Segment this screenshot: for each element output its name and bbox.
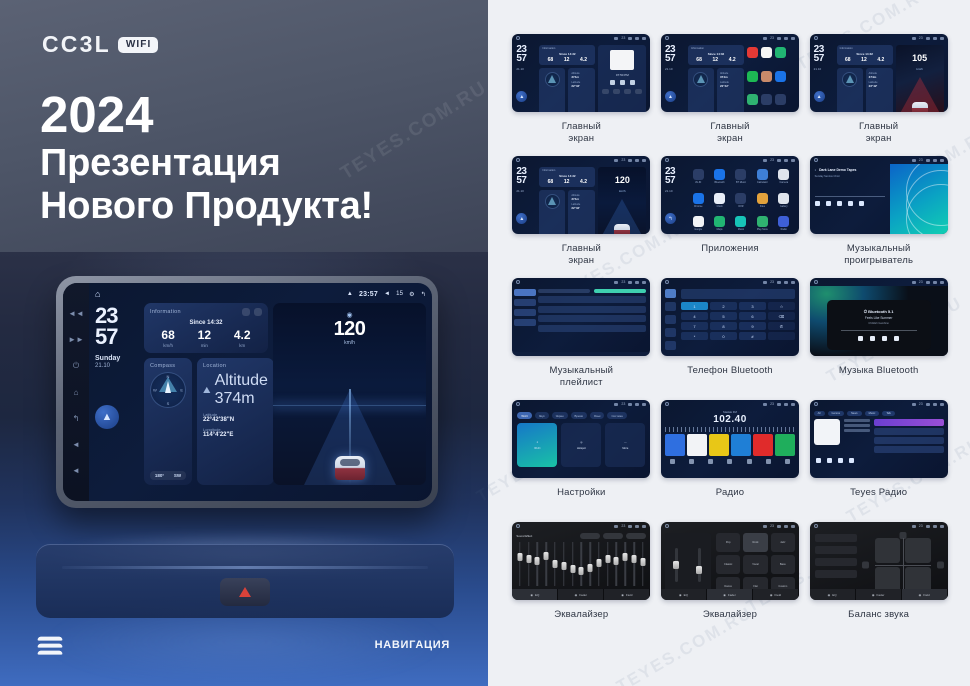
back-icon: [940, 281, 944, 284]
sidebar-item-settings: [665, 341, 676, 350]
back-icon: [642, 281, 646, 284]
gallery-caption: Музыкальный плейлист: [549, 365, 613, 389]
stat-duration-value: 12: [198, 329, 211, 341]
wifi-icon: [614, 159, 618, 162]
gear-icon: [784, 159, 788, 162]
preset-6: [775, 434, 795, 456]
list-item: [874, 419, 944, 426]
gallery-item[interactable]: 23 1Dark Lane Demo Tapes Sunday Service …: [807, 156, 950, 276]
teyes-radio-controls[interactable]: [814, 458, 944, 463]
wifi-icon: ✦: [536, 441, 538, 444]
gallery-item[interactable]: 23 ⏻ Bluetooth 5.1 Feels Like Summer Chi…: [807, 278, 950, 398]
backspace-icon: ⌫: [768, 312, 795, 320]
home-icon: [814, 36, 818, 40]
speed-unit: km/h: [273, 340, 426, 346]
sidebar-item-tracks: [514, 289, 536, 296]
mini-time: 23: [770, 36, 774, 40]
mini-time: 23: [621, 524, 625, 528]
equalizer-faders[interactable]: [516, 542, 646, 586]
fader: [569, 542, 576, 586]
clock-date: 21.10: [95, 363, 139, 369]
mini-stat-3: 4.2: [580, 57, 587, 63]
preset-4: [731, 434, 751, 456]
mini-info-since: Since 14:32: [691, 52, 741, 56]
eq-icon: [708, 459, 713, 464]
expand-icon[interactable]: [254, 308, 262, 316]
station-artwork: [814, 419, 840, 445]
gallery-item[interactable]: 23 23 57 21.10 ▲ Information Since 14:32: [510, 34, 653, 154]
drive-view-widget[interactable]: ◉ 120 km/h: [273, 303, 426, 485]
navigation-label: НАВИГАЦИЯ: [375, 639, 450, 651]
list-item: [874, 437, 944, 444]
mini-clock-minutes: 57: [516, 54, 536, 63]
head-unit-screen[interactable]: ◄◄ ►► ⏻ ⌂ ↰ ◄ ◄ ⌂ ▲ 23:57: [63, 283, 432, 501]
prev-icon: [826, 201, 831, 206]
player-controls[interactable]: [815, 201, 885, 206]
thumbnail-bluetooth-music[interactable]: 23 ⏻ Bluetooth 5.1 Feels Like Summer Chi…: [810, 278, 948, 356]
gallery-item[interactable]: 23 Maslak FM 102.40: [659, 400, 802, 520]
next-icon: [848, 201, 853, 206]
next-icon: [537, 356, 542, 357]
volume-down-key-icon[interactable]: ◄: [71, 439, 82, 450]
playlist-player-bar[interactable]: [512, 352, 650, 356]
gear-icon: [784, 281, 788, 284]
bluetooth-card: ⏻ Bluetooth 5.1 Feels Like Summer Childi…: [827, 300, 931, 350]
mini-status-icons: 23: [912, 402, 944, 406]
key-2: 2: [710, 302, 737, 310]
sidebar-item-artists: [514, 299, 536, 306]
stat-duration-unit: min: [198, 343, 211, 348]
thumbnail-sound-balance[interactable]: 23: [810, 522, 948, 600]
hero-panel: TEYES.COM.RU TEYES.COM.RU TEYES.COM.RU T…: [0, 0, 488, 686]
gallery-caption: Музыка Bluetooth: [839, 365, 919, 377]
gear-icon: [784, 37, 788, 40]
speaker-front-right: [905, 538, 931, 563]
thumbnail-teyes-radio[interactable]: 23 AllGenresNews MusicTalk: [810, 400, 948, 478]
tab-news: News: [847, 411, 862, 416]
mini-information-card: Information Since 14:32 68124.2: [837, 45, 893, 65]
key-4: 4: [681, 312, 708, 320]
mini-home: 2357 21.10▲ Information Since 14:32 6812…: [810, 42, 948, 112]
prev-key-icon[interactable]: ◄◄: [71, 308, 82, 319]
stop-icon: [620, 80, 625, 85]
playlist-sidebar[interactable]: [512, 286, 538, 356]
caption-line-2: экран: [717, 133, 743, 144]
preset-5: [753, 434, 773, 456]
mini-status-bar: 23: [661, 522, 799, 530]
gallery-caption: Главный экран: [859, 121, 898, 145]
wifi-icon: [614, 37, 618, 40]
more-icon: ⋯: [624, 441, 627, 444]
mini-status-icons: 23: [912, 36, 944, 40]
layers-icon: [38, 636, 62, 655]
mini-lower-widgets: Altitude374m Latitude22°42': [539, 68, 595, 112]
mini-info-since: Since 14:32: [542, 52, 592, 56]
mini-status-icons: 23: [614, 402, 646, 406]
equalizer-bottom-tabs[interactable]: ◉EQ ◉Fader ◉Field: [512, 589, 650, 600]
compass-direction: SW: [174, 473, 181, 478]
headline-year: 2024: [40, 88, 373, 142]
location-altitude: ⛰ Altitude 374m: [203, 372, 268, 408]
compass-east: E: [180, 388, 183, 393]
mini-status-bar: 23: [512, 278, 650, 286]
sidebar-item-favorites: [665, 315, 676, 324]
preset-2: [687, 434, 707, 456]
preset-buttons[interactable]: Pop Rock Jazz Classic Vocal Bass Dance F…: [716, 533, 795, 596]
radio-display: Maslak FM 102.40: [665, 410, 795, 425]
status-bar: ⌂ ▲ 23:57 ◄ 15 ⚙ ↰: [95, 288, 426, 300]
gallery-item[interactable]: 23 23 57 21.10 ▲ Information Since 14:32: [659, 34, 802, 154]
mini-info-stats: 68124.2: [691, 57, 741, 63]
wifi-icon: [614, 403, 618, 406]
tab-fader: ◉Fader: [707, 589, 753, 600]
mini-status-bar: 23: [810, 156, 948, 164]
preset-all: [815, 570, 857, 578]
field-icon: ◉: [770, 593, 773, 597]
settings-tabs[interactable]: Wi-Fi Звук Экран Время Язык Система: [517, 412, 645, 419]
gallery-item[interactable]: 23 2357 21.10↰ AV-IN Bluetooth BT Music …: [659, 156, 802, 276]
key-8: 8: [710, 322, 737, 330]
loc-icon: [766, 459, 771, 464]
compass-dial: N E S W: [150, 372, 186, 408]
mini-stat-1: 68: [548, 57, 554, 63]
wifi-icon: [912, 525, 916, 528]
gallery-caption: Главный экран: [562, 243, 601, 267]
tab-time: Время: [571, 412, 587, 419]
compass-needle-icon: [697, 75, 705, 83]
thumbnail-settings[interactable]: 23 Wi-Fi Звук Экран Время Язык Система ✦…: [512, 400, 650, 478]
call-icon: ✆: [768, 322, 795, 330]
navigation-arrow-icon[interactable]: ▲: [95, 405, 119, 429]
mini-status-icons: 23: [614, 524, 646, 528]
gallery-caption: Приложения: [701, 243, 759, 255]
mini-music-time: 07:50 PM: [616, 73, 629, 77]
caption-line-1: Главный: [859, 121, 898, 132]
fader-icon: ◉: [872, 593, 875, 597]
fader: [534, 542, 541, 586]
teyes-radio-body: [814, 419, 944, 455]
navigation-arrow-icon: ▲: [516, 213, 527, 224]
mini-clock: 2357 21.10↰: [665, 167, 685, 234]
star-icon: ☆: [768, 302, 795, 310]
home-icon: [814, 402, 818, 406]
radio-toolbar[interactable]: [665, 459, 795, 464]
dialer-keypad[interactable]: 1 2 3 ☆ 4 5 6 ⌫ 7 8 9 ✆: [681, 302, 795, 340]
mini-information-card: Information Since 14:32 68124.2: [539, 167, 595, 187]
thumbnail-home-apps[interactable]: 23 23 57 21.10 ▲ Information Since 14:32: [661, 34, 799, 112]
screen-content: ⌂ ▲ 23:57 ◄ 15 ⚙ ↰: [89, 283, 432, 501]
mini-time: 23: [770, 280, 774, 284]
mini-time: 23: [621, 158, 625, 162]
back-icon: [642, 403, 646, 406]
compass-south: S: [167, 401, 170, 406]
compass-bearing: 180°: [155, 473, 164, 478]
next-icon: [894, 336, 899, 341]
location-card[interactable]: Location ⛰ Altitude 374m: [197, 358, 274, 485]
volume-up-key-icon[interactable]: ◄: [71, 465, 82, 476]
caption-line-2: плейлист: [560, 377, 603, 388]
home-icon[interactable]: ⌂: [95, 289, 100, 299]
mini-playlist-screen: [512, 286, 650, 356]
gallery-item[interactable]: 23: [807, 522, 950, 642]
app-icon-youtube: [747, 47, 758, 68]
sidebar-item-keypad: [665, 289, 676, 298]
information-card[interactable]: Information Since 14:32 68: [144, 303, 268, 353]
gallery-item[interactable]: 23 Pop Rock Jazz Classic Vocal Bass: [659, 522, 802, 642]
clock-widget[interactable]: 23 57 Sunday 21.10 ▲: [95, 303, 139, 485]
teyes-radio-tabs[interactable]: AllGenresNews MusicTalk: [814, 411, 944, 416]
mini-status-icons: 23: [763, 280, 795, 284]
volume-icon: [926, 403, 930, 406]
equalizer-bottom-tabs[interactable]: ◉EQ ◉Fader ◉Field: [661, 589, 799, 600]
favorite-icon: [849, 458, 854, 463]
app-grid: AV-IN Bluetooth BT Music Calculator Came…: [689, 167, 795, 234]
back-icon: [642, 37, 646, 40]
dialer-number-field[interactable]: [681, 289, 795, 299]
caption-line-1: Баланс звука: [848, 609, 909, 620]
gallery-item[interactable]: 23 1 2 3 ☆: [659, 278, 802, 398]
volume-icon: [926, 37, 930, 40]
balance-pad[interactable]: [875, 538, 931, 592]
fader-pair[interactable]: [665, 533, 711, 596]
thumbnail-radio[interactable]: 23 Maslak FM 102.40: [661, 400, 799, 478]
bt-controls[interactable]: [858, 336, 899, 341]
hazard-button[interactable]: [220, 578, 270, 606]
navigation-arrow-icon: ▲: [665, 91, 676, 102]
tab-eq: ◉EQ: [661, 589, 707, 600]
mini-time: 23: [919, 158, 923, 162]
back-icon: [940, 159, 944, 162]
app-icon-radio: Radio: [775, 216, 793, 234]
mini-status-bar: 23: [512, 400, 650, 408]
mini-home: 2357 21.10▲ Information Since 14:32 6812…: [512, 164, 650, 234]
gallery-item[interactable]: 23 Sound Effect: [510, 522, 653, 642]
tab-wifi: Wi-Fi: [517, 412, 532, 419]
back-icon: [791, 159, 795, 162]
tab-sound: Звук: [535, 412, 549, 419]
arrow-left-icon[interactable]: [862, 562, 869, 569]
headline-line-2: Нового Продукта!: [40, 185, 373, 228]
app-icon-avin: AV-IN: [689, 169, 707, 190]
mini-time: 23: [621, 36, 625, 40]
gallery-item[interactable]: 23 2357 21.10▲ Information Since 14:32 6…: [510, 156, 653, 276]
gallery-caption: Радио: [716, 487, 744, 499]
tab-screen: Экран: [552, 412, 568, 419]
player-track-row: 1Dark Lane Demo Tapes: [815, 168, 885, 172]
mini-btmusic-screen: ⏻ Bluetooth 5.1 Feels Like Summer Childi…: [810, 286, 948, 356]
prev-icon: [858, 336, 863, 341]
wifi-icon: [912, 403, 916, 406]
gear-icon: [635, 403, 639, 406]
information-stats: 68 km/h 12 min 4.2: [150, 329, 262, 348]
stat-speed-value: 68: [161, 329, 174, 341]
gallery-caption: Настройки: [557, 487, 605, 499]
gallery-item[interactable]: 23 AllGenresNews MusicTalk: [807, 400, 950, 520]
preset-rock: Rock: [743, 533, 767, 552]
screen-side-keys[interactable]: ◄◄ ►► ⏻ ⌂ ↰ ◄ ◄: [63, 283, 89, 501]
gallery-caption: Главный экран: [562, 121, 601, 145]
gear-icon: [933, 159, 937, 162]
mini-widgets: Information Since 14:32 68124.2 Altitude…: [837, 45, 893, 112]
location-longitude: Longitude 114°4'22"E: [203, 427, 268, 438]
station-list[interactable]: [874, 419, 944, 455]
caption-line-1: Приложения: [701, 243, 759, 254]
altitude-value: 374m: [215, 390, 255, 407]
radio-tuning-scale[interactable]: [665, 427, 795, 432]
wifi-icon: [912, 281, 916, 284]
stat-speed-unit: km/h: [161, 343, 174, 348]
key-1: 1: [681, 302, 708, 310]
caption-line-1: Главный: [562, 243, 601, 254]
dialer-sidebar[interactable]: [661, 286, 681, 356]
mini-status-bar: 23: [512, 522, 650, 530]
gear-icon: [933, 403, 937, 406]
gallery-item[interactable]: 23: [510, 278, 653, 398]
mini-time: 23: [919, 402, 923, 406]
wifi-icon: [614, 281, 618, 284]
eq-icon: ◉: [679, 593, 682, 597]
list-icon: [727, 459, 732, 464]
compass-card[interactable]: Compass N E S W: [144, 358, 192, 485]
equalizer-preset-label: Sound Effect: [516, 534, 532, 538]
car-graphic: [335, 456, 365, 480]
preset-pop: Pop: [716, 533, 740, 552]
gallery-item[interactable]: 23 Wi-Fi Звук Экран Время Язык Система ✦…: [510, 400, 653, 520]
mini-lower-widgets: Altitude374mLatitude22°42': [837, 68, 893, 112]
volume-icon: [628, 525, 632, 528]
altitude-label: Altitude: [215, 372, 268, 390]
mountain-icon: ⛰: [203, 385, 211, 396]
player-track-sub: Sunday Service Choir: [815, 175, 885, 178]
information-card-header: Information: [150, 308, 262, 316]
preset-classic: Classic: [716, 555, 740, 574]
wifi-icon: ▲: [347, 291, 353, 297]
mini-clock: 23 57 21.10 ▲: [516, 45, 536, 112]
fader: [622, 542, 629, 586]
mini-compass-card: [539, 190, 565, 234]
equalizer-preset-buttons[interactable]: [580, 533, 646, 539]
gear-icon: [635, 281, 639, 284]
home-icon: [665, 36, 669, 40]
app-icon-filemanager: Files: [753, 193, 771, 214]
preset-jazz: Jazz: [771, 533, 795, 552]
next-key-icon[interactable]: ►►: [71, 334, 82, 345]
volume-icon: [628, 37, 632, 40]
key-star: *: [681, 332, 708, 340]
thumbnail-music-playlist[interactable]: 23: [512, 278, 650, 356]
refresh-icon[interactable]: [242, 308, 250, 316]
mini-clock: 2357 21.10▲: [516, 167, 536, 234]
back-icon: [642, 525, 646, 528]
thumbnail-equalizer-presets[interactable]: 23 Pop Rock Jazz Classic Vocal Bass: [661, 522, 799, 600]
mini-widgets: Information Since 14:32 68124.2 Altitude…: [539, 167, 595, 234]
thumbnail-home-drive-red[interactable]: 23 2357 21.10▲ Information Since 14:32 6…: [810, 34, 948, 112]
mini-info-title: Information: [542, 47, 592, 50]
mini-radio-screen: Maslak FM 102.40: [661, 408, 799, 478]
thumbnail-home-music[interactable]: 23 23 57 21.10 ▲ Information Since 14:32: [512, 34, 650, 112]
volume-icon: [777, 159, 781, 162]
back-icon: [642, 159, 646, 162]
back-icon: [940, 37, 944, 40]
information-card-actions[interactable]: [242, 308, 262, 316]
mini-status-icons: 23: [763, 36, 795, 40]
thumbnail-home-drive[interactable]: 23 2357 21.10▲ Information Since 14:32 6…: [512, 156, 650, 234]
car-graphic: [912, 102, 928, 112]
back-key-icon[interactable]: ↰: [71, 413, 82, 424]
thumbnail-equalizer[interactable]: 23 Sound Effect: [512, 522, 650, 600]
wifi-icon: [912, 37, 916, 40]
next-icon: [630, 80, 635, 85]
equalizer-header: Sound Effect: [516, 533, 646, 539]
player-progress-bar[interactable]: [815, 196, 885, 197]
wifi-icon: [763, 281, 767, 284]
mini-clock: 23 57 21.10 ▲: [665, 45, 685, 112]
band-icon: [670, 459, 675, 464]
app-icon-gallery: [761, 71, 772, 92]
gear-icon: [933, 281, 937, 284]
caption-line-1: Телефон Bluetooth: [687, 365, 773, 376]
mini-compass-dial: [545, 72, 560, 87]
compass-needle-icon: [846, 75, 854, 83]
mini-widgets: Information Since 14:32 68124.2 Altitude…: [688, 45, 744, 112]
power-key-icon[interactable]: ⏻: [71, 360, 82, 371]
arrow-right-icon[interactable]: [937, 562, 944, 569]
caption-line-2: проигрыватель: [844, 255, 913, 266]
mini-lower-widgets: Altitude374mLatitude22°42': [688, 68, 744, 112]
key-hash: #: [739, 332, 766, 340]
fader: [613, 542, 620, 586]
compass-needle-icon: [165, 381, 171, 393]
mini-info-stats: 68 12 4.2: [542, 57, 592, 63]
app-icon-gallery: Gallery: [775, 193, 793, 214]
caption-line-1: Радио: [716, 487, 744, 498]
mini-info-title: Information: [691, 47, 741, 50]
gallery-item[interactable]: 23 2357 21.10▲ Information Since 14:32 6…: [807, 34, 950, 154]
widget-column: Information Since 14:32 68: [144, 303, 268, 485]
fader: [552, 542, 559, 586]
thumbnail-bluetooth-phone[interactable]: 23 1 2 3 ☆: [661, 278, 799, 356]
home-icon: [814, 524, 818, 528]
tab-language: Язык: [590, 412, 605, 419]
fader-icon: ◉: [575, 593, 578, 597]
back-icon[interactable]: ↰: [421, 291, 426, 298]
radio-presets[interactable]: [665, 434, 795, 456]
caption-line-1: Эквалайзер: [554, 609, 608, 620]
fader: [631, 542, 638, 586]
tab-field: ◉Field: [604, 589, 650, 600]
mini-status-bar: 23: [810, 34, 948, 42]
tab-fader: ◉Fader: [558, 589, 604, 600]
sidebar-item-contacts: [665, 302, 676, 311]
wifi-icon: [763, 37, 767, 40]
thumbnail-music-player[interactable]: 23 1Dark Lane Demo Tapes Sunday Service …: [810, 156, 948, 234]
gallery-caption: Музыкальный проигрыватель: [844, 243, 913, 267]
gear-icon[interactable]: ⚙: [409, 291, 415, 298]
longitude-value: 114°4'22"E: [203, 432, 268, 438]
caption-line-1: Настройки: [557, 487, 605, 498]
settings-cards[interactable]: ✦Wi-Fi ◎Hotspot ⋯More: [517, 423, 645, 467]
bt-progress-bar[interactable]: [841, 330, 917, 331]
balance-presets[interactable]: [815, 534, 857, 596]
playlist-tabs[interactable]: [538, 289, 646, 293]
tab-eq: ◉EQ: [512, 589, 558, 600]
gallery-caption: Баланс звука: [848, 609, 909, 621]
equalizer-bottom-tabs[interactable]: ◉EQ ◉Fader ◉Field: [810, 589, 948, 600]
home-key-icon[interactable]: ⌂: [71, 387, 82, 398]
mini-clock-date: 21.10: [665, 67, 685, 71]
volume-icon: [926, 281, 930, 284]
thumbnail-apps[interactable]: 23 2357 21.10↰ AV-IN Bluetooth BT Music …: [661, 156, 799, 234]
